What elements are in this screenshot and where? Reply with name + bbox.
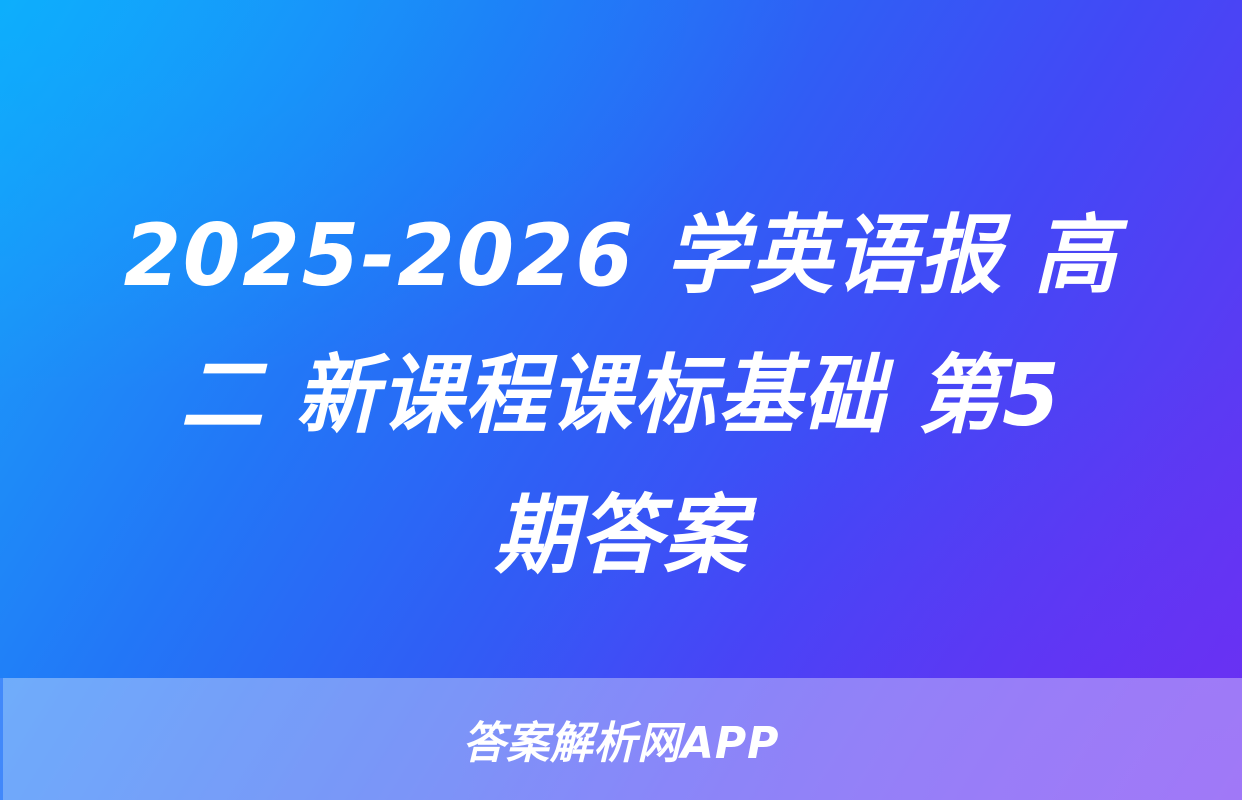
app-brand-label: 答案解析网APP: [19, 678, 1224, 800]
poster-title-block: 2025-2026 学英语报 高 二 新课程课标基础 第5 期答案: [0, 186, 1242, 606]
app-brand-text: 答案解析网APP: [463, 707, 780, 771]
footer-band-left-edge: [0, 678, 3, 800]
answer-poster: 2025-2026 学英语报 高 二 新课程课标基础 第5 期答案 答案解析网A…: [0, 0, 1242, 800]
title-line-1: 2025-2026 学英语报 高: [59, 186, 1182, 326]
title-line-2: 二 新课程课标基础 第5: [59, 326, 1182, 466]
title-line-3: 期答案: [59, 466, 1182, 606]
